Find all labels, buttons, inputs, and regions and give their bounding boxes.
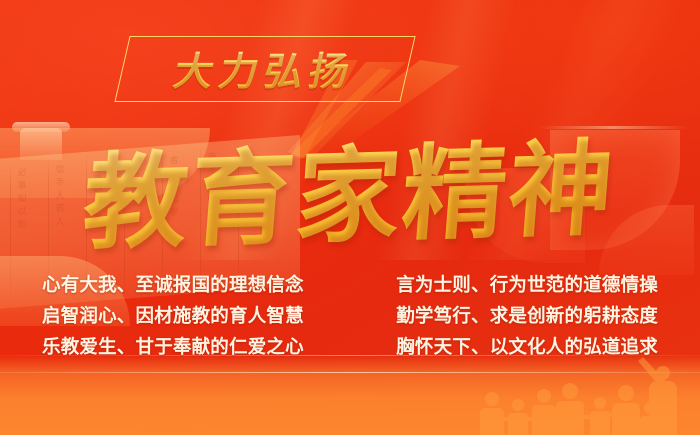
- slogan-right-2: 勤学笃行、求是创新的躬耕态度: [350, 303, 658, 330]
- band-divider-line: [0, 372, 700, 373]
- slogan-left-3: 乐教爱生、甘于奉献的仁爱之心: [42, 334, 350, 361]
- sub-title: 大力弘扬: [144, 40, 385, 98]
- bottom-light-band: [0, 355, 700, 435]
- slogan-grid: 心有大我、至诚报国的理想信念 言为士则、行为世范的道德情操 启智润心、因材施教的…: [0, 272, 700, 361]
- slogan-right-3: 胸怀天下、以文化人的弘道追求: [350, 334, 658, 361]
- main-title: 教育家精神: [0, 102, 700, 269]
- banner-poster: 必事知以知 信手人若人 之妻知也者 其二必之言 者之心以学 而不亦説乎 大力弘扬…: [0, 0, 700, 435]
- slogan-right-1: 言为士则、行为世范的道德情操: [350, 272, 658, 299]
- teacher-and-children-silhouette-icon: [460, 355, 700, 435]
- slogan-left-2: 启智润心、因材施教的育人智慧: [42, 303, 350, 330]
- slogan-left-1: 心有大我、至诚报国的理想信念: [42, 272, 350, 299]
